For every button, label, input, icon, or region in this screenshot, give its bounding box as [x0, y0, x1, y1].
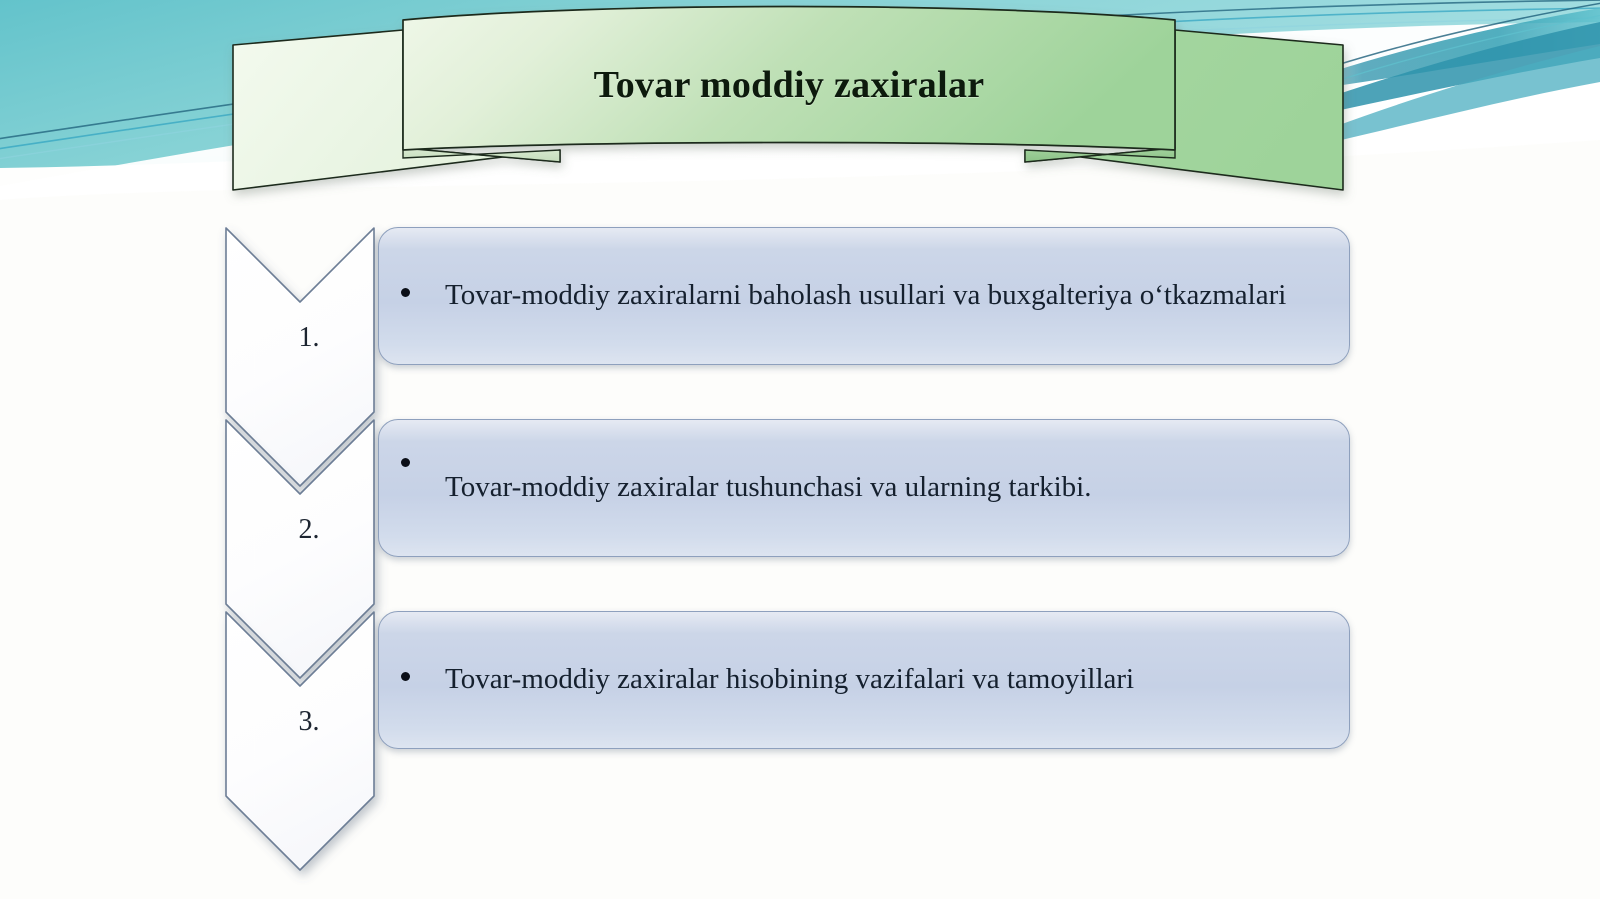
content-box-2[interactable]: Tovar-moddiy zaxiralar tushunchasi va ul… [378, 419, 1350, 557]
bullet-icon [401, 672, 410, 681]
bullet-icon [401, 288, 410, 297]
content-box-3[interactable]: Tovar-moddiy zaxiralar hisobining vazifa… [378, 611, 1350, 749]
slide-root: Tovar moddiy zaxiralar 1. Tovar-moddiy z… [0, 0, 1600, 899]
step-number-3: 3. [224, 706, 394, 738]
bullet-icon [401, 458, 410, 467]
content-text-1: Tovar-moddiy zaxiralarni baholash usulla… [445, 277, 1335, 314]
chevron-shape-1 [226, 228, 374, 486]
content-text-2: Tovar-moddiy zaxiralar tushunchasi va ul… [445, 469, 1335, 506]
chevron-shape-3 [226, 612, 374, 870]
content-box-1[interactable]: Tovar-moddiy zaxiralarni baholash usulla… [378, 227, 1350, 365]
content-text-3: Tovar-moddiy zaxiralar hisobining vazifa… [445, 661, 1335, 698]
content-rows: 1. Tovar-moddiy zaxiralarni baholash usu… [0, 0, 1600, 899]
step-number-1: 1. [224, 322, 394, 354]
chevron-shape-2 [226, 420, 374, 678]
step-number-2: 2. [224, 514, 394, 546]
